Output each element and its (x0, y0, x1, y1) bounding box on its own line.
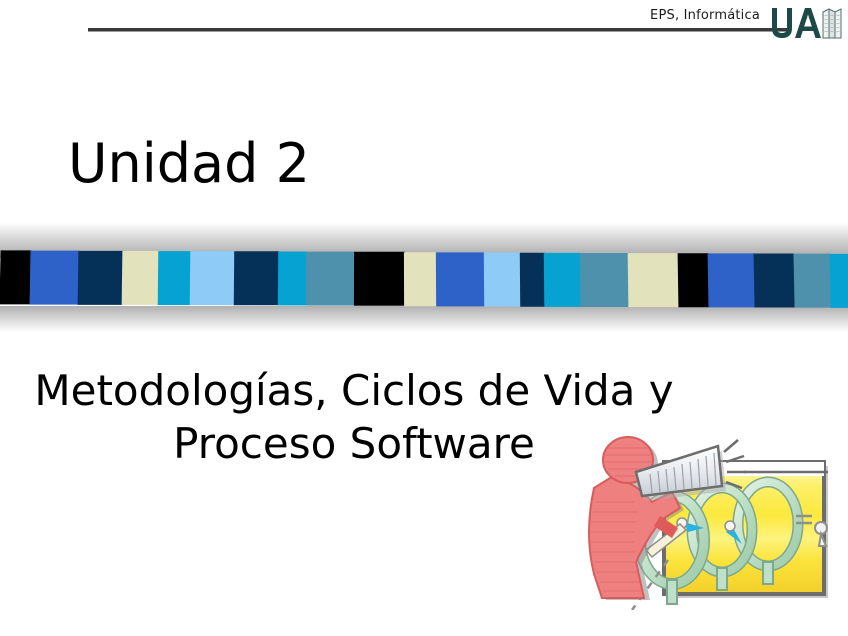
person-with-megaphone-and-cycles-clipart (572, 424, 840, 610)
header-divider-line (88, 28, 790, 32)
band-block (829, 254, 848, 308)
band-block (0, 250, 32, 304)
decorative-color-band (0, 222, 848, 332)
header-affiliation-label: EPS, Informática (650, 8, 760, 23)
band-block (404, 252, 437, 306)
band-block (30, 251, 80, 305)
band-block (354, 252, 405, 306)
band-block (78, 251, 124, 305)
band-block (628, 253, 680, 307)
slide-title: Unidad 2 (68, 134, 310, 194)
slide-canvas: EPS, Informática (0, 0, 848, 636)
band-block (793, 254, 831, 308)
band-block (678, 253, 710, 307)
band-block (754, 254, 796, 308)
band-block (234, 251, 279, 305)
uam-logo (768, 2, 844, 44)
band-block (580, 253, 630, 307)
band-block (122, 251, 160, 305)
band-block (708, 253, 756, 307)
band-block (436, 252, 485, 306)
band-block-row (0, 252, 848, 310)
subtitle-line-1: Metodologías, Ciclos de Vida y (24, 364, 684, 417)
band-block (544, 253, 582, 307)
band-block (278, 251, 307, 305)
band-block (520, 253, 545, 307)
band-block (306, 252, 355, 306)
band-block (158, 251, 192, 305)
slide-header: EPS, Informática (0, 0, 848, 50)
band-block (484, 253, 521, 307)
band-block (190, 251, 236, 305)
